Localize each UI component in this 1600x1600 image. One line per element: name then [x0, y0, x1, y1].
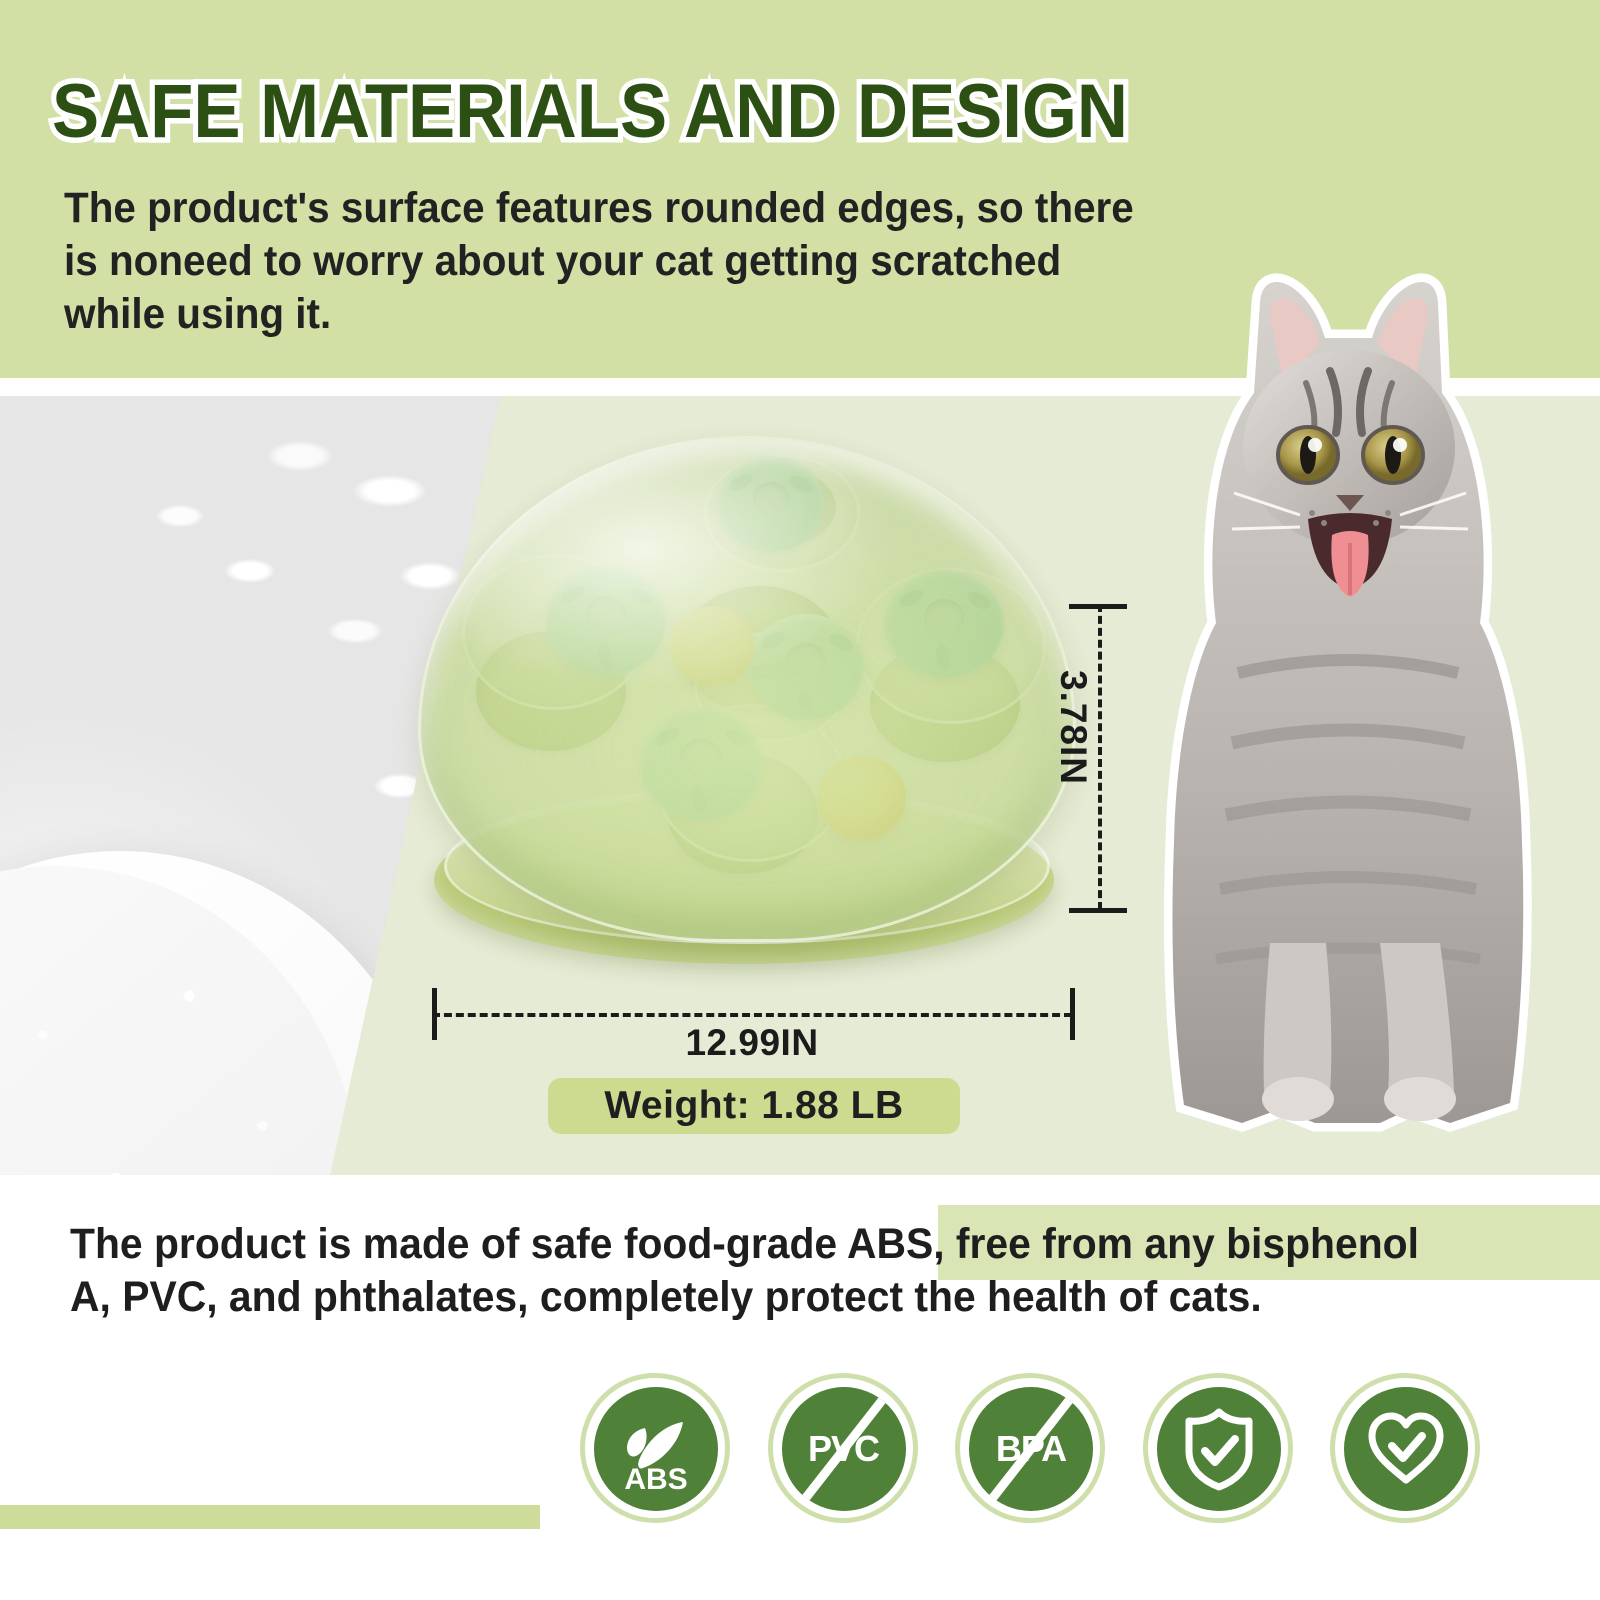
- badge-abs-core: ABS: [594, 1387, 718, 1511]
- width-dimension-label: 12.99IN: [432, 1022, 1072, 1064]
- cat-paw-right: [1384, 1077, 1456, 1121]
- cat-cutout: [1150, 243, 1545, 1148]
- product-image: [418, 436, 1070, 976]
- badge-shield-core: [1157, 1387, 1281, 1511]
- banner-subtitle: The product's surface features rounded e…: [64, 182, 1145, 341]
- shield-check-icon: [1181, 1407, 1257, 1491]
- badge-heart-check: [1330, 1373, 1480, 1523]
- height-dimension-line: [1098, 604, 1102, 910]
- badge-heart-core: [1344, 1387, 1468, 1511]
- weight-badge: Weight: 1.88 LB: [548, 1078, 960, 1134]
- kitten-photo: [1150, 243, 1545, 1148]
- cat-paw-left: [1262, 1077, 1334, 1121]
- height-dimension-cap-bottom: [1069, 908, 1127, 913]
- badge-no-bpa: BPA: [955, 1373, 1105, 1523]
- bottom-accent-bar: [0, 1505, 540, 1529]
- infographic-page: SAFE MATERIALS AND DESIGN The product's …: [0, 0, 1600, 1600]
- height-dimension-cap-top: [1069, 604, 1127, 609]
- badge-shield-check: [1143, 1373, 1293, 1523]
- badge-abs-label: ABS: [594, 1463, 718, 1497]
- pellet-pile: [0, 866, 360, 1175]
- heart-check-icon: [1364, 1410, 1448, 1488]
- page-title: SAFE MATERIALS AND DESIGN: [52, 70, 1128, 154]
- product-dome-cover: [418, 436, 1076, 942]
- badge-no-bpa-core: BPA: [969, 1387, 1093, 1511]
- body-paragraph: The product is made of safe food-grade A…: [70, 1218, 1448, 1324]
- badge-no-pvc: PVC: [768, 1373, 918, 1523]
- width-dimension-line: [432, 1013, 1072, 1017]
- height-dimension-label: 3.78IN: [1052, 670, 1094, 785]
- badge-abs: ABS: [580, 1373, 730, 1523]
- certification-badges: ABS PVC BPA: [580, 1368, 1480, 1528]
- badge-no-pvc-core: PVC: [782, 1387, 906, 1511]
